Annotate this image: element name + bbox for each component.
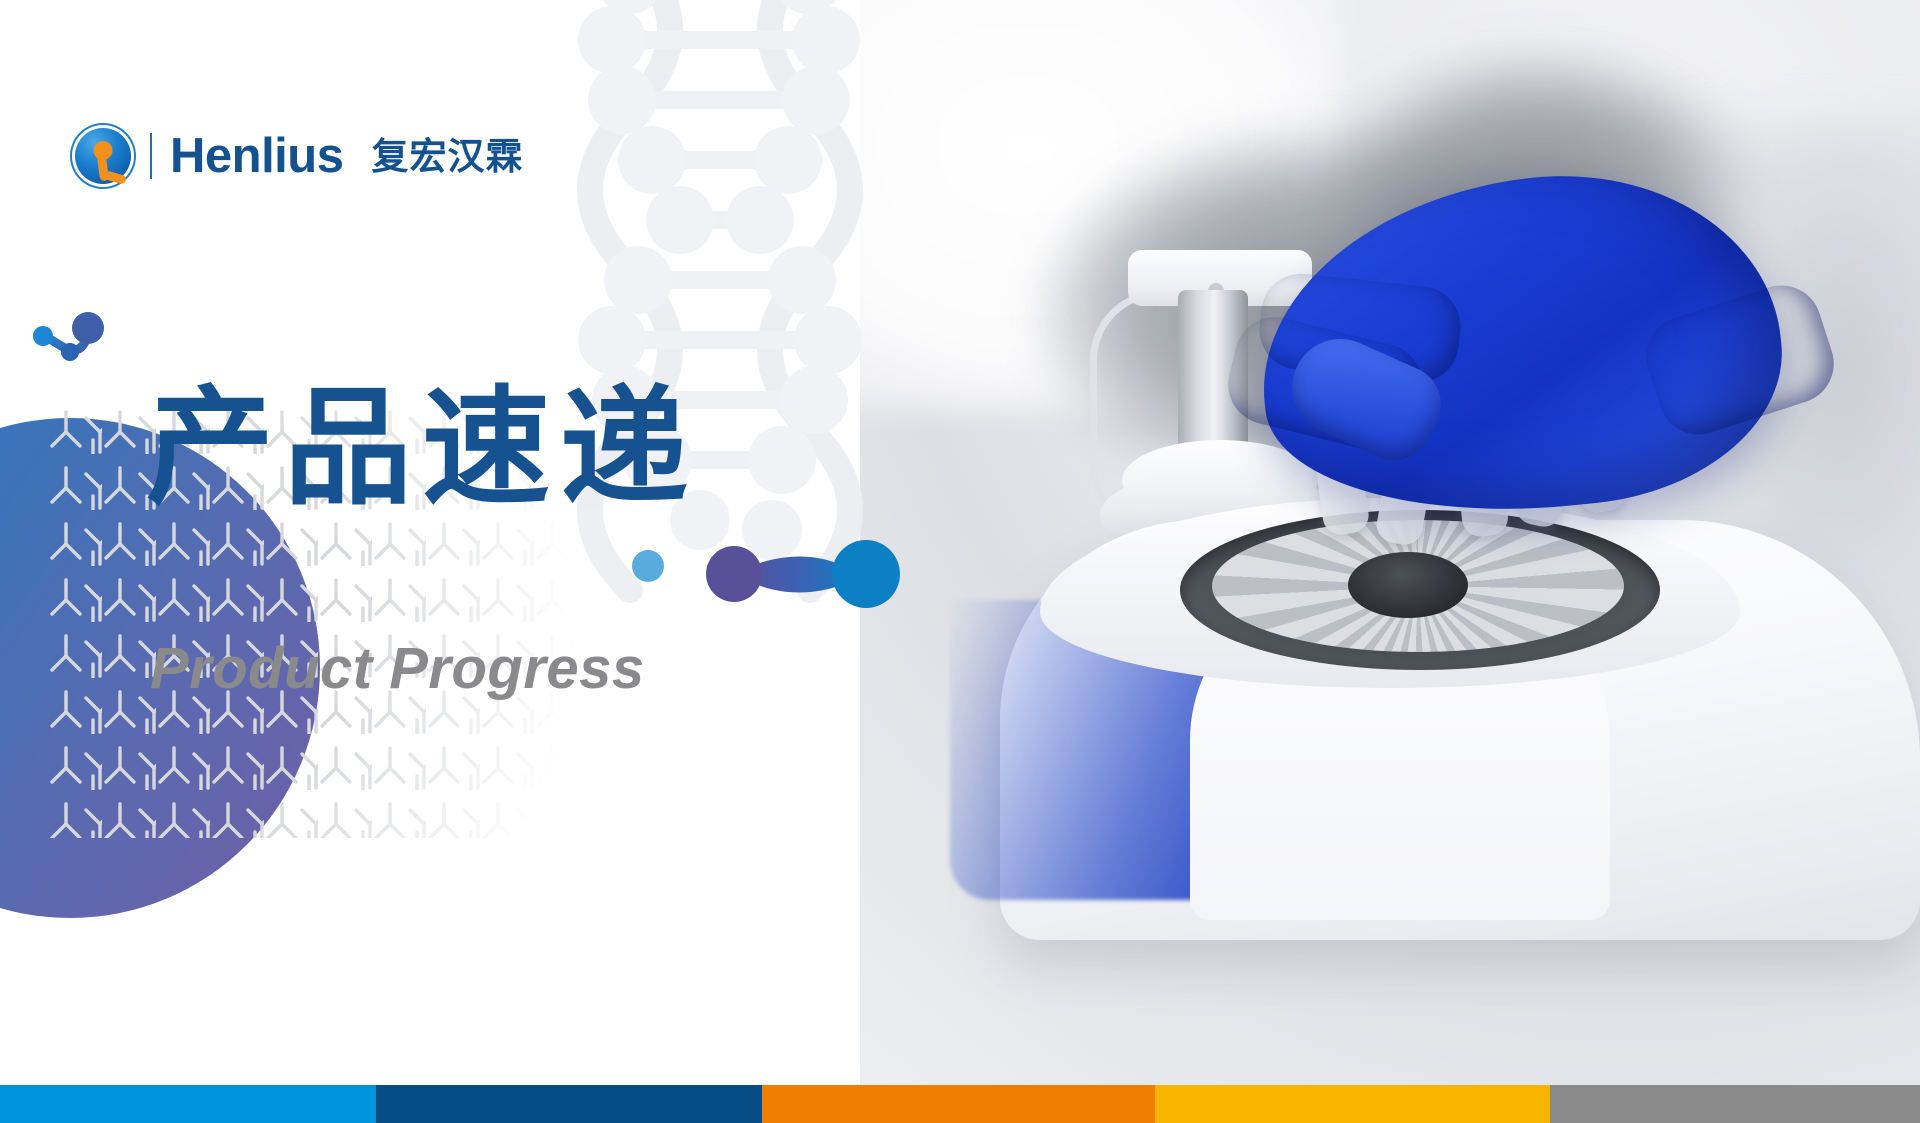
- segment-gray: [1550, 1085, 1920, 1123]
- logo-english-name: Henlius: [170, 132, 343, 181]
- logo-divider: [150, 133, 152, 179]
- segment-orange: [762, 1085, 1155, 1123]
- page-subtitle: Product Progress: [150, 640, 645, 698]
- logo-chinese-name: 复宏汉霖: [371, 138, 523, 175]
- bottom-color-bar: [0, 1085, 1920, 1123]
- accent-dot: [632, 550, 664, 582]
- henlius-emblem-icon: [72, 125, 134, 187]
- molecule-icon-large: [700, 538, 920, 608]
- brand-logo[interactable]: Henlius 复宏汉霖: [72, 123, 523, 189]
- segment-yellow: [1155, 1085, 1550, 1123]
- presentation-slide: Henlius 复宏汉霖 产品速递 Product Progress: [0, 0, 1920, 1123]
- molecule-icon-small: [30, 310, 110, 370]
- segment-dark-blue: [376, 1085, 762, 1123]
- centrifuge-rotor-hub: [1348, 552, 1468, 618]
- segment-light-blue: [0, 1085, 376, 1123]
- page-title: 产品速递: [146, 380, 698, 518]
